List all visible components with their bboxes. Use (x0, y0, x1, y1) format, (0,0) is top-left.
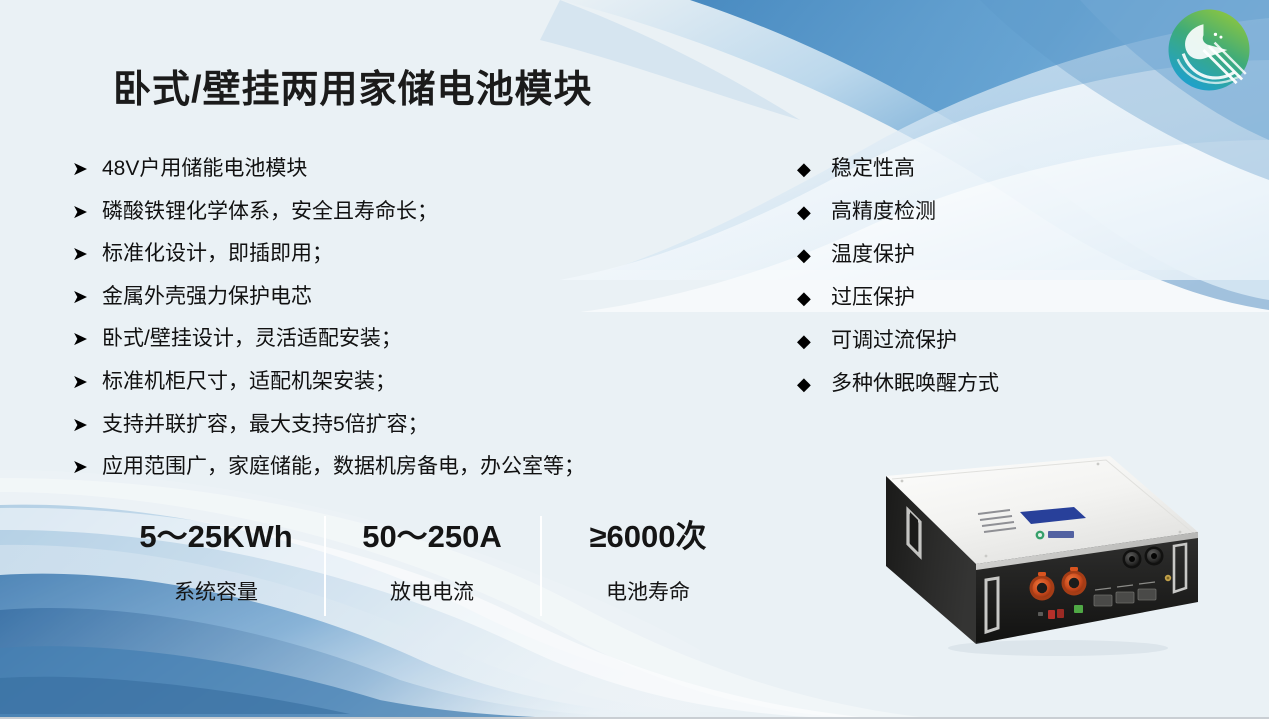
spec-cell-capacity: 5～25KWh 系统容量 (108, 516, 324, 621)
list-item: ➤ 应用范围广，家庭储能，数据机房备电，办公室等； (72, 450, 732, 493)
list-item: ➤ 标准机柜尺寸，适配机架安装； (72, 365, 732, 408)
list-item-label: 支持并联扩容，最大支持5倍扩容； (102, 408, 429, 438)
slide-canvas: 卧式/壁挂两用家储电池模块 ➤ 48V户用储能电池模块 ➤ 磷酸铁锂化学体系，安… (0, 0, 1269, 719)
arrow-bullet-icon: ➤ (72, 330, 102, 349)
spec-cell-current: 50～250A 放电电流 (324, 516, 540, 621)
feature-list-left: ➤ 48V户用储能电池模块 ➤ 磷酸铁锂化学体系，安全且寿命长； ➤ 标准化设计… (72, 152, 732, 493)
spec-cell-lifespan: ≥6000次 电池寿命 (540, 516, 756, 621)
list-item: ◆ 高精度检测 (797, 195, 1127, 238)
list-item-label: 应用范围广，家庭储能，数据机房备电，办公室等； (102, 450, 585, 480)
spec-highlights: 5～25KWh 系统容量 50～250A 放电电流 ≥6000次 电池寿命 (108, 516, 756, 621)
list-item: ➤ 标准化设计，即插即用； (72, 237, 732, 280)
list-item-label: 稳定性高 (831, 152, 915, 182)
list-item: ◆ 多种休眠唤醒方式 (797, 367, 1127, 410)
list-item-label: 磷酸铁锂化学体系，安全且寿命长； (102, 195, 438, 225)
arrow-bullet-icon: ➤ (72, 458, 102, 477)
spec-label: 放电电流 (324, 580, 540, 606)
list-item-label: 可调过流保护 (831, 324, 957, 354)
spec-value: 50～250A (324, 516, 540, 558)
list-item: ◆ 过压保护 (797, 281, 1127, 324)
list-item-label: 金属外壳强力保护电芯 (102, 280, 312, 310)
diamond-bullet-icon: ◆ (797, 160, 831, 178)
list-item-label: 过压保护 (831, 281, 915, 311)
list-item: ➤ 卧式/壁挂设计，灵活适配安装； (72, 322, 732, 365)
spec-label: 系统容量 (108, 580, 324, 606)
spec-label: 电池寿命 (540, 580, 756, 606)
diamond-bullet-icon: ◆ (797, 289, 831, 307)
company-logo-icon (1163, 4, 1255, 96)
spec-value: 5～25KWh (108, 516, 324, 558)
list-item: ◆ 稳定性高 (797, 152, 1127, 195)
arrow-bullet-icon: ➤ (72, 416, 102, 435)
list-item: ➤ 支持并联扩容，最大支持5倍扩容； (72, 408, 732, 451)
list-item-label: 48V户用储能电池模块 (102, 152, 307, 182)
page-title: 卧式/壁挂两用家储电池模块 (113, 58, 593, 113)
list-item: ➤ 48V户用储能电池模块 (72, 152, 732, 195)
list-item-label: 高精度检测 (831, 195, 936, 225)
arrow-bullet-icon: ➤ (72, 288, 102, 307)
list-item: ◆ 可调过流保护 (797, 324, 1127, 367)
list-item: ➤ 磷酸铁锂化学体系，安全且寿命长； (72, 195, 732, 238)
diamond-bullet-icon: ◆ (797, 375, 831, 393)
list-item-label: 多种休眠唤醒方式 (831, 367, 999, 397)
list-item-label: 温度保护 (831, 238, 915, 268)
diamond-bullet-icon: ◆ (797, 203, 831, 221)
list-item-label: 标准机柜尺寸，适配机架安装； (102, 365, 396, 395)
feature-list-right: ◆ 稳定性高 ◆ 高精度检测 ◆ 温度保护 ◆ 过压保护 ◆ 可调过流保护 ◆ … (797, 152, 1127, 410)
spec-value: ≥6000次 (540, 516, 756, 558)
arrow-bullet-icon: ➤ (72, 160, 102, 179)
arrow-bullet-icon: ➤ (72, 245, 102, 264)
list-item-label: 卧式/壁挂设计，灵活适配安装； (102, 322, 402, 352)
list-item: ◆ 温度保护 (797, 238, 1127, 281)
diamond-bullet-icon: ◆ (797, 246, 831, 264)
product-image (858, 452, 1226, 674)
arrow-bullet-icon: ➤ (72, 203, 102, 222)
list-item: ➤ 金属外壳强力保护电芯 (72, 280, 732, 323)
diamond-bullet-icon: ◆ (797, 332, 831, 350)
arrow-bullet-icon: ➤ (72, 373, 102, 392)
list-item-label: 标准化设计，即插即用； (102, 237, 333, 267)
